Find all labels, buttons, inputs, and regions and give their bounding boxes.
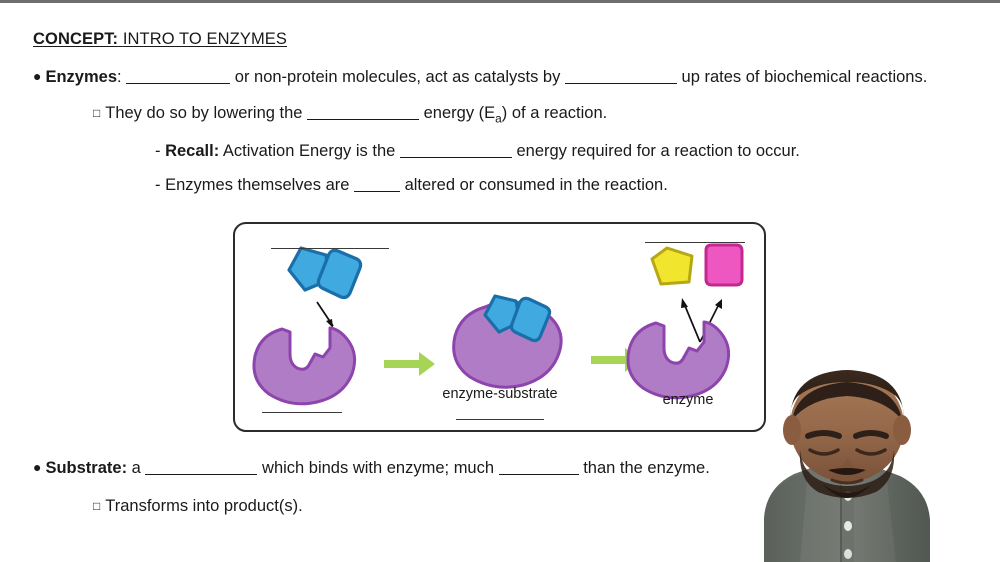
blank-lowering-1[interactable] (307, 119, 419, 120)
lowering-bullet: □They do so by lowering the energy (Ea) … (93, 104, 607, 125)
enzyme-shape (254, 328, 355, 404)
recall-text-a: Activation Energy is the (219, 142, 400, 160)
recall-term: Recall: (165, 142, 219, 160)
slide-screen: CONCEPT: INTRO TO ENZYMES ●Enzymes: or n… (0, 0, 1000, 562)
dash-marker-icon: - (155, 176, 161, 194)
instructor-video-overlay[interactable] (672, 368, 1000, 562)
blank-enzymes-1[interactable] (126, 83, 230, 84)
substrate-term: Substrate: (45, 459, 127, 477)
blank-substrate-2[interactable] (499, 474, 579, 475)
themselves-text-a: Enzymes themselves are (165, 176, 354, 194)
blank-themselves-1[interactable] (354, 191, 400, 192)
instructor-ear-left (783, 415, 801, 445)
enzymes-term: Enzymes (45, 68, 117, 86)
product-square-shape (706, 245, 742, 285)
enzymes-text-b: or non-protein molecules, act as catalys… (230, 68, 565, 86)
lowering-text-b: energy (E (419, 104, 495, 122)
instructor-shirt-button (844, 549, 852, 559)
substrate-text-b: which binds with enzyme; much (257, 459, 498, 477)
enzymes-text-a: : (117, 68, 126, 86)
bullet-dot-icon: ● (33, 68, 41, 84)
enzymes-bullet: ●Enzymes: or non-protein molecules, act … (33, 68, 927, 86)
blank-enzymes-2[interactable] (565, 83, 677, 84)
transforms-bullet: □Transforms into product(s). (93, 497, 303, 515)
blank-diagram-complex-label[interactable] (456, 419, 544, 420)
transforms-text: Transforms into product(s). (105, 497, 302, 515)
concept-label: CONCEPT: (33, 30, 118, 48)
instructor-eyebrow-left (808, 433, 839, 436)
caption-enzyme-substrate: enzyme-substrate (430, 386, 570, 402)
dash-marker-icon: - (155, 142, 161, 160)
reaction-arrow-1-icon (384, 352, 435, 376)
blank-diagram-products-label[interactable] (645, 242, 745, 243)
themselves-text-b: altered or consumed in the reaction. (400, 176, 668, 194)
lowering-text-a: They do so by lowering the (105, 104, 307, 122)
bullet-square-icon: □ (93, 106, 100, 120)
page-title: CONCEPT: INTRO TO ENZYMES (33, 30, 287, 49)
blank-substrate-1[interactable] (145, 474, 257, 475)
instructor-eyebrow-right (856, 433, 886, 436)
concept-title: INTRO TO ENZYMES (123, 30, 287, 48)
instructor-shirt-button (844, 521, 852, 531)
recall-text-b: energy required for a reaction to occur. (512, 142, 800, 160)
blank-diagram-enzyme-label[interactable] (262, 412, 342, 413)
panel-1-enzyme-and-substrate (254, 248, 361, 404)
recall-bullet: - Recall: Activation Energy is the energ… (155, 142, 800, 160)
product-pentagon-shape (652, 248, 692, 284)
bullet-square-icon: □ (93, 499, 100, 513)
binding-arrow-icon (317, 302, 333, 328)
themselves-bullet: - Enzymes themselves are altered or cons… (155, 176, 668, 194)
panel-2-enzyme-substrate-complex (454, 296, 561, 387)
ea-subscript: a (495, 111, 502, 125)
lowering-text-c: ) of a reaction. (502, 104, 607, 122)
blank-diagram-substrate-label[interactable] (271, 248, 389, 249)
top-chrome-bar (0, 0, 1000, 3)
blank-recall-1[interactable] (400, 157, 512, 158)
bullet-dot-icon: ● (33, 459, 41, 475)
instructor-ear-right (893, 415, 911, 445)
substrate-text-a: a (127, 459, 145, 477)
substrate-bullet: ●Substrate: a which binds with enzyme; m… (33, 459, 710, 477)
enzymes-text-c: up rates of biochemical reactions. (677, 68, 927, 86)
